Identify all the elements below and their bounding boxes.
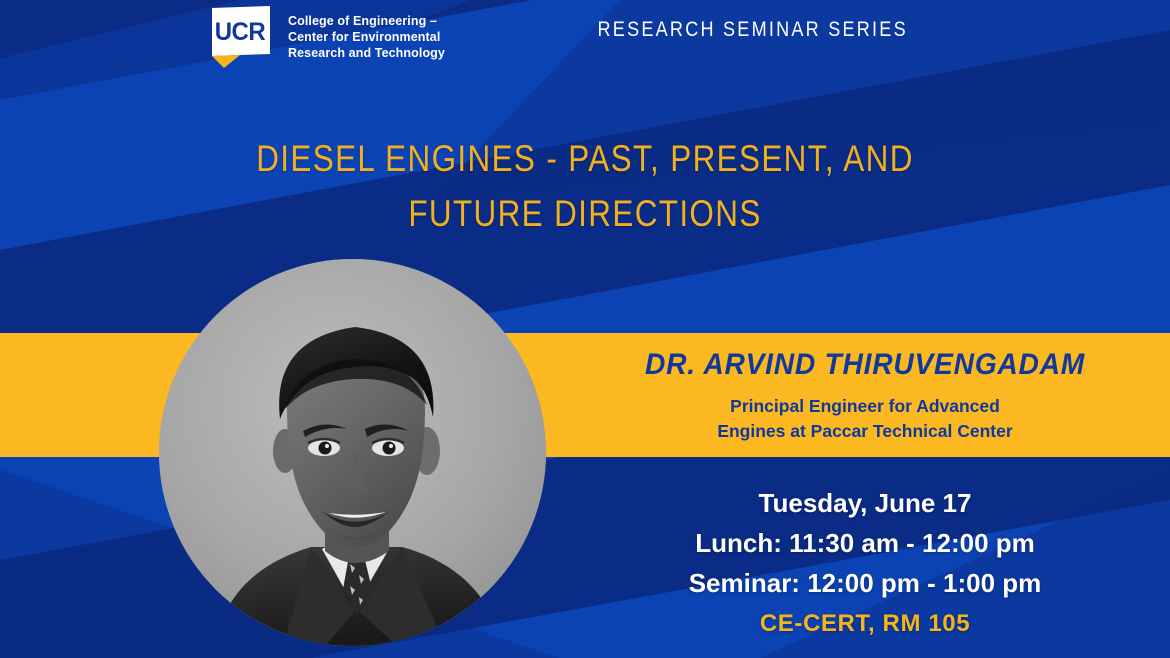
logo-line-3: Research and Technology xyxy=(288,46,445,60)
event-schedule: Tuesday, June 17 Lunch: 11:30 am - 12:00… xyxy=(560,484,1170,603)
page-title: DIESEL ENGINES - PAST, PRESENT, AND FUTU… xyxy=(88,132,1083,242)
title-line-2: FUTURE DIRECTIONS xyxy=(88,187,1083,242)
speaker-role-line-1: Principal Engineer for Advanced xyxy=(560,394,1170,419)
seminar-poster: UCR College of Engineering – Center for … xyxy=(0,0,1170,658)
event-location: CE-CERT, RM 105 xyxy=(560,610,1170,638)
title-line-1: DIESEL ENGINES - PAST, PRESENT, AND xyxy=(88,132,1083,187)
event-date: Tuesday, June 17 xyxy=(560,484,1170,524)
speaker-portrait xyxy=(159,259,546,646)
speaker-name: DR. ARVIND THIRUVENGADAM xyxy=(578,348,1151,382)
speaker-role: Principal Engineer for Advanced Engines … xyxy=(560,394,1170,444)
series-label: RESEARCH SEMINAR SERIES xyxy=(82,18,1088,42)
event-seminar-time: Seminar: 12:00 pm - 1:00 pm xyxy=(560,564,1170,604)
poster-header: UCR College of Engineering – Center for … xyxy=(0,0,1170,88)
speaker-portrait-image xyxy=(159,259,546,646)
event-lunch-time: Lunch: 11:30 am - 12:00 pm xyxy=(560,524,1170,564)
speaker-role-line-2: Engines at Paccar Technical Center xyxy=(560,419,1170,444)
